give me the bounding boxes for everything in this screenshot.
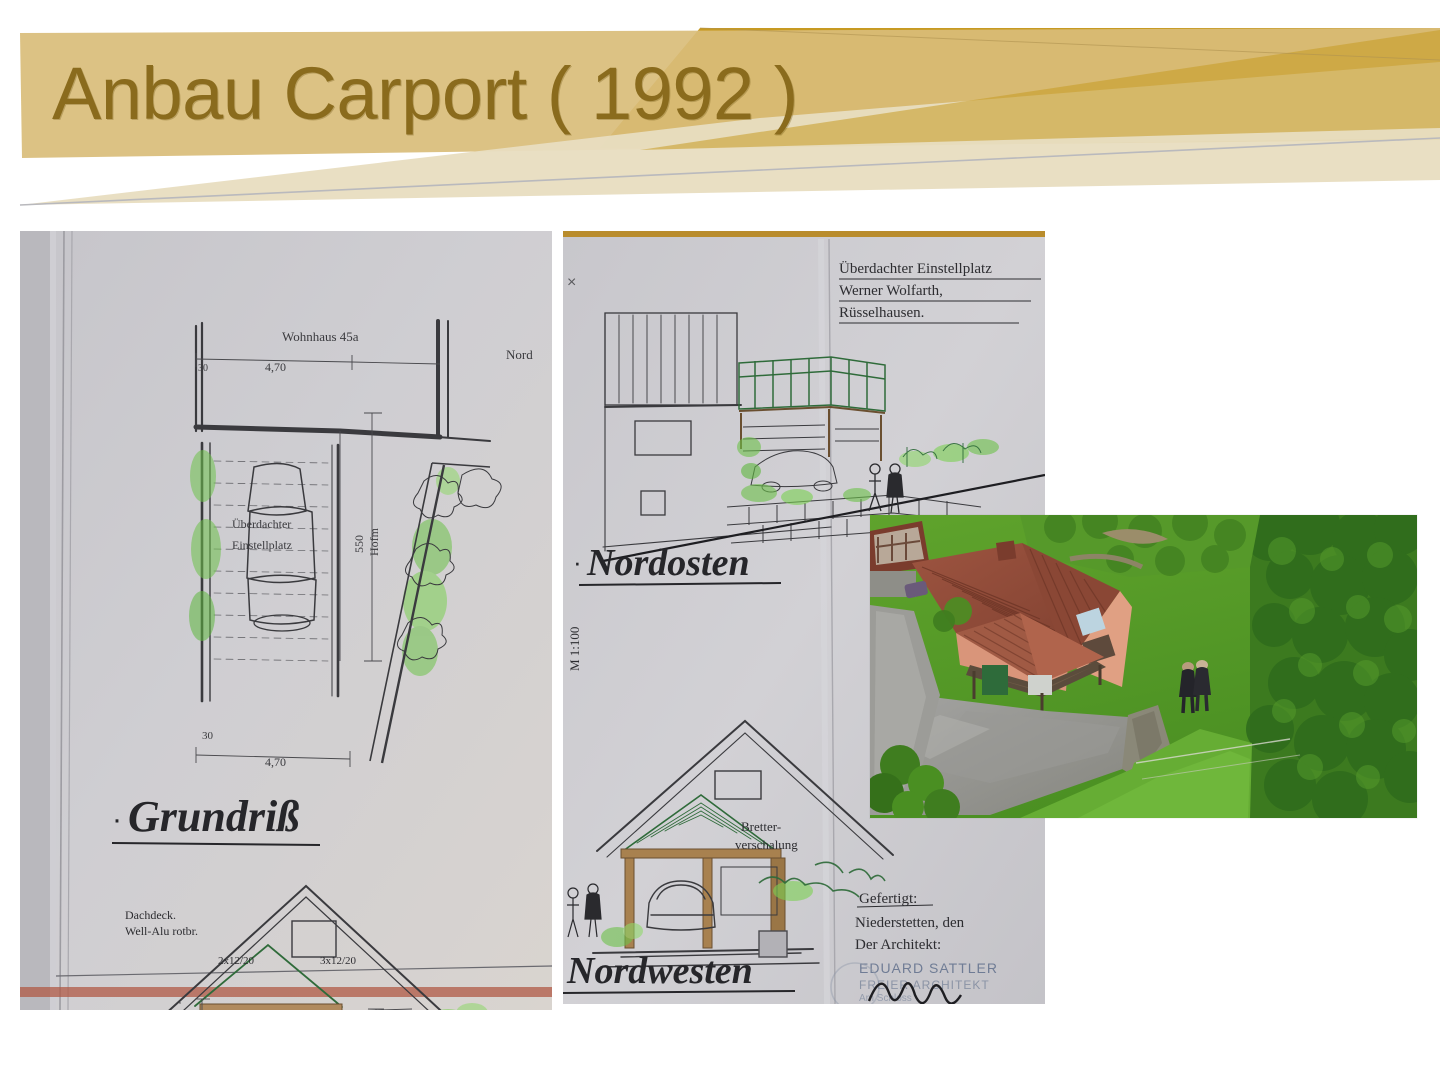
label-north: Nord [506, 347, 533, 362]
margin-note: M 1:100 [567, 627, 582, 671]
svg-text:Nordwesten: Nordwesten [566, 950, 753, 992]
plan-left-image: Wohnhaus 45a 4,70 30 Nord 550 Hofm Überd… [20, 231, 552, 1010]
svg-text:Am Schloss: Am Schloss [859, 993, 912, 1004]
label-dim-30: 30 [202, 730, 214, 742]
svg-text:Werner Wolfarth,: Werner Wolfarth, [839, 283, 943, 299]
aerial-photo [870, 515, 1417, 818]
caption-dash-ne: · [573, 547, 582, 577]
svg-text:Bretter-: Bretter- [741, 819, 781, 834]
caption-grundriss: Grundriß · [112, 792, 320, 845]
svg-text:Nordosten: Nordosten [586, 542, 750, 584]
svg-text:Niederstetten, den: Niederstetten, den [855, 915, 965, 931]
label-beam-right: 3x12/20 [320, 955, 357, 967]
label-dim-550: 550 [352, 535, 366, 553]
label-beam-left: 2x12/20 [218, 955, 255, 967]
label-dachdeck-1: Dachdeck. [125, 908, 176, 922]
label-carport-1: Überdachter [232, 517, 291, 531]
svg-text:EDUARD SATTLER: EDUARD SATTLER [859, 960, 998, 976]
slide-root: Anbau Carport ( 1992 ) [0, 0, 1440, 1080]
svg-text:Grundriß: Grundriß [128, 792, 299, 841]
label-wohnhaus: Wohnhaus 45a [282, 329, 359, 344]
aerial-photo-content [870, 515, 1417, 818]
svg-text:Überdachter Einstellplatz: Überdachter Einstellplatz [839, 260, 992, 277]
label-carport-2: Einstellplatz [232, 538, 292, 552]
label-dim-hofm: Hofm [367, 527, 381, 556]
caption-dash-left: · [112, 803, 122, 836]
label-dim-small: 30 [198, 363, 208, 374]
svg-text:Gefertigt:: Gefertigt: [859, 891, 917, 907]
plan-left-drawing: Wohnhaus 45a 4,70 30 Nord 550 Hofm Überd… [20, 231, 552, 1010]
label-dim-top: 4,70 [265, 360, 286, 374]
label-dachdeck-2: Well-Alu rotbr. [125, 924, 198, 938]
page-title: Anbau Carport ( 1992 ) [52, 52, 798, 136]
svg-text:Der Architekt:: Der Architekt: [855, 937, 941, 953]
svg-text:Rüsselhausen.: Rüsselhausen. [839, 305, 924, 321]
svg-text:verschalung: verschalung [735, 837, 798, 852]
green-door [982, 665, 1008, 695]
mark-x: × [567, 274, 576, 291]
trees-right [1244, 515, 1417, 818]
